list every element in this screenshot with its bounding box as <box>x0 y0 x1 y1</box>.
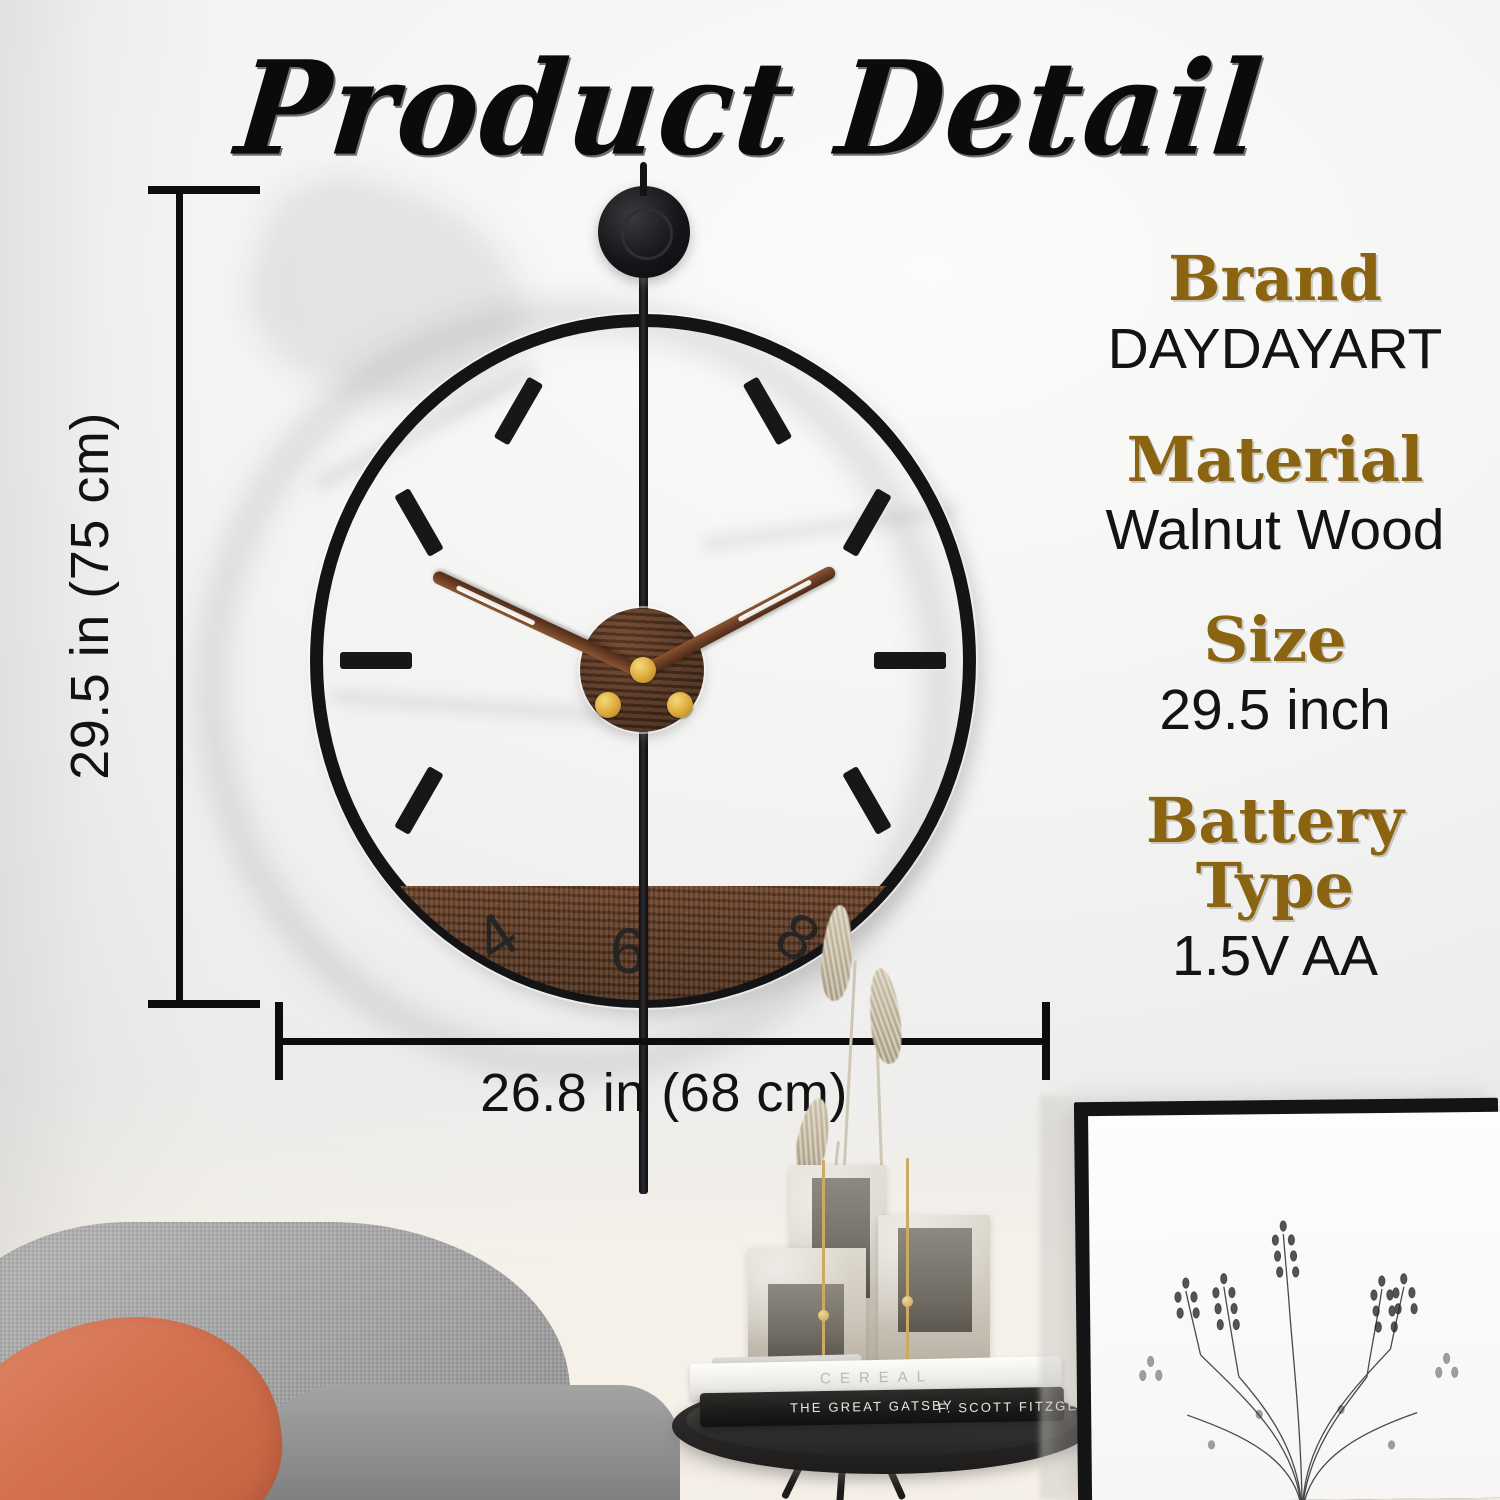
spec-label-size: Size <box>1060 607 1490 672</box>
spec-label-brand: Brand <box>1060 246 1490 311</box>
width-dimension-label: 26.8 in (68 cm) <box>280 1062 1048 1124</box>
framed-artwork <box>1074 1098 1500 1500</box>
brass-screw-right <box>667 692 693 718</box>
decor-brass-rod <box>906 1158 909 1364</box>
wall-clock: 4 6 8 <box>310 314 976 1008</box>
decor-brass-knob <box>818 1310 829 1321</box>
width-dimension-line <box>278 1038 1050 1045</box>
clock-wall-mount-ring <box>621 208 673 260</box>
spec-item-size: Size 29.5 inch <box>1060 607 1490 744</box>
page-title: Product Detail <box>0 32 1500 185</box>
artwork-canvas <box>1088 1112 1500 1500</box>
decor-brass-rod <box>822 1160 825 1364</box>
product-detail-image: Product Detail 29.5 in (75 cm) 4 6 8 <box>0 0 1500 1500</box>
decor-block-right-inset <box>898 1228 972 1332</box>
spec-item-material: Material Walnut Wood <box>1060 427 1490 564</box>
spec-item-brand: Brand DAYDAYART <box>1060 246 1490 383</box>
spec-value-size: 29.5 inch <box>1060 678 1490 744</box>
spec-value-material: Walnut Wood <box>1060 498 1490 564</box>
height-dimension-cap-bottom <box>148 1000 260 1008</box>
spec-list: Brand DAYDAYART Material Walnut Wood Siz… <box>1060 246 1490 990</box>
spec-value-brand: DAYDAYART <box>1060 317 1490 383</box>
height-dimension-label: 29.5 in (75 cm) <box>59 316 121 876</box>
book-black-title: THE GREAT GATSBY <box>790 1398 954 1416</box>
brass-screw-left <box>595 692 621 718</box>
spec-value-battery-type: 1.5V AA <box>1060 924 1490 990</box>
armchair-arm <box>250 1385 680 1500</box>
spec-item-battery-type: Battery Type 1.5V AA <box>1060 788 1490 990</box>
decor-block-front-inset <box>768 1284 844 1358</box>
botanical-line-art <box>1088 1112 1500 1500</box>
spec-label-material: Material <box>1060 427 1490 492</box>
decor-brass-knob <box>902 1296 913 1307</box>
clock-mount-stub <box>640 162 647 196</box>
spec-label-battery-type: Battery Type <box>1060 788 1490 918</box>
height-dimension-cap-top <box>148 186 260 194</box>
height-dimension-line <box>176 190 183 1008</box>
brass-screw-center <box>630 657 656 683</box>
